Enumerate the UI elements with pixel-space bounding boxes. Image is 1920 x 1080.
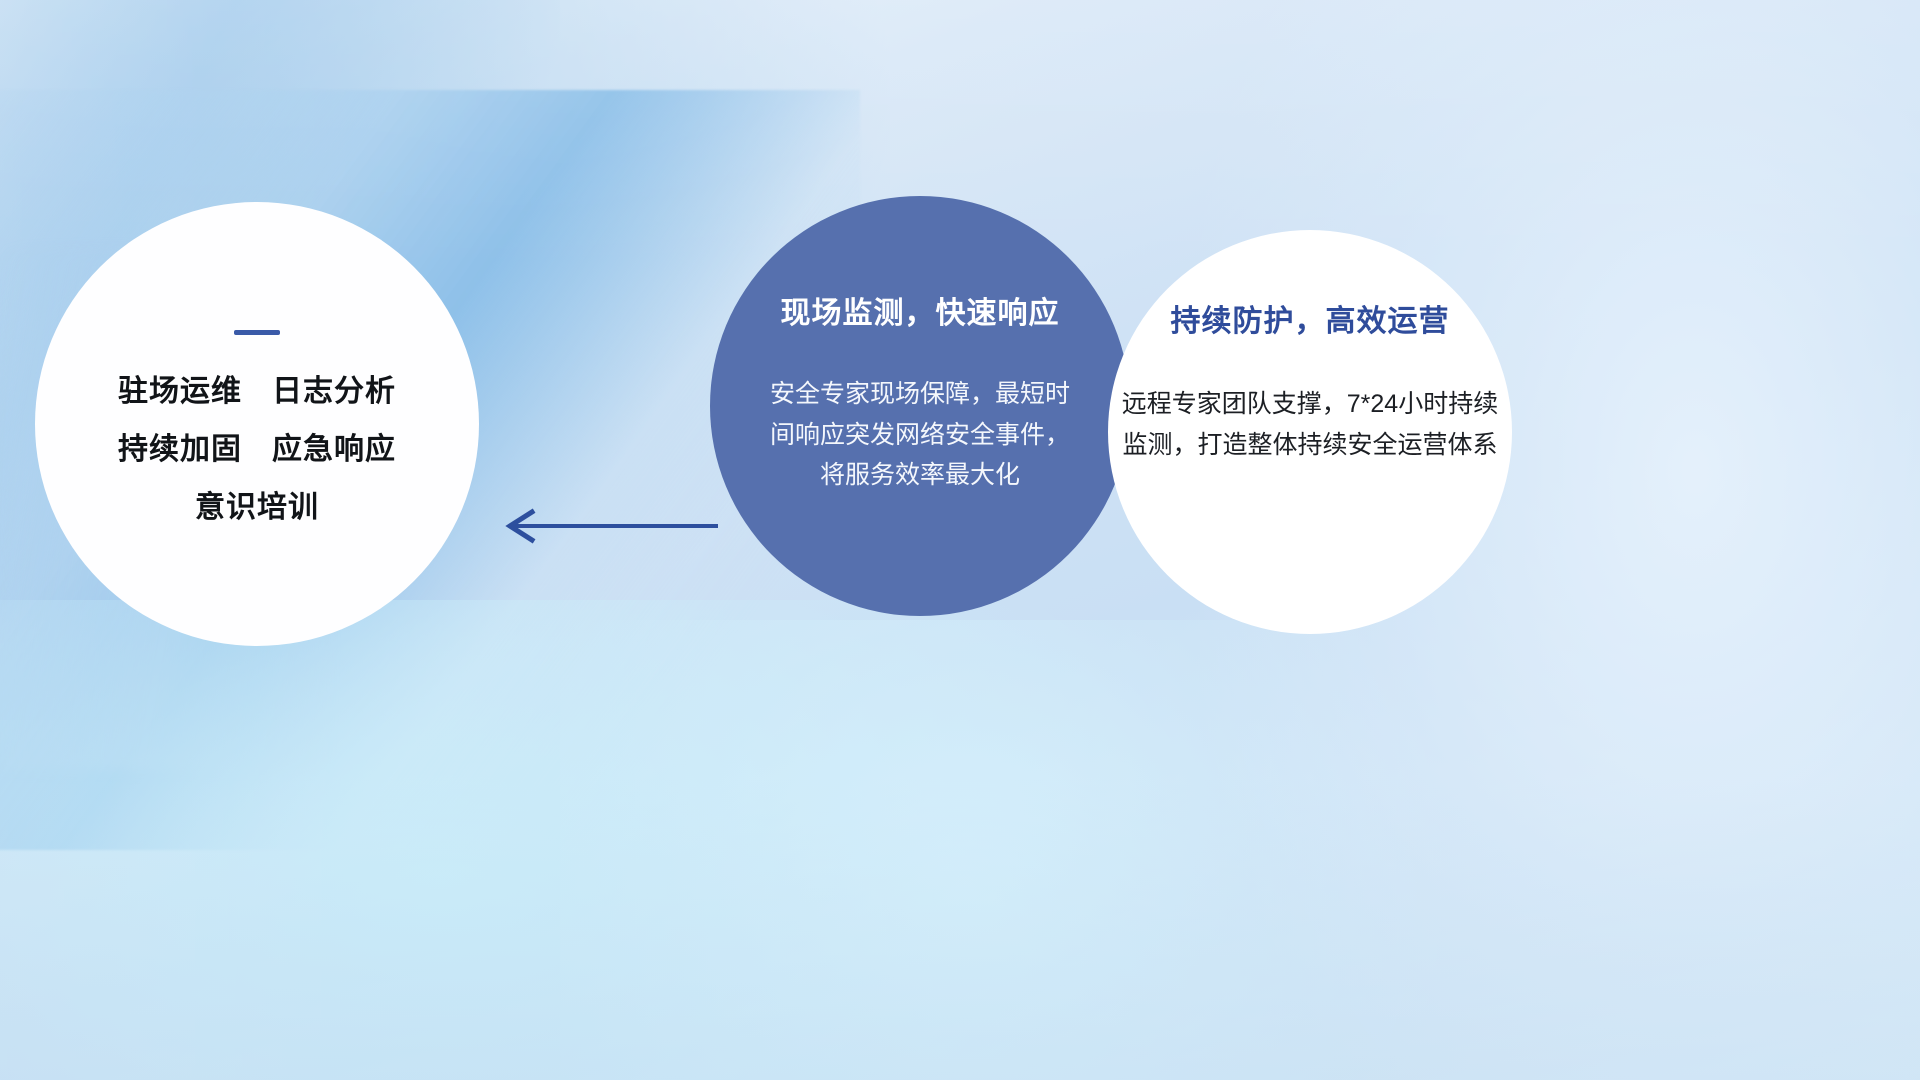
capability-list: 驻场运维 日志分析 持续加固 应急响应 意识培训 <box>118 377 396 523</box>
capability-item: 意识培训 <box>195 491 319 524</box>
node-title: 持续防护，高效运营 <box>1171 296 1450 340</box>
capability-row: 驻场运维 日志分析 <box>118 377 396 407</box>
node-continuous-protection[interactable]: 持续防护，高效运营 远程专家团队支撑，7*24小时持续监测，打造整体持续安全运营… <box>1108 230 1512 634</box>
node-capabilities[interactable]: 驻场运维 日志分析 持续加固 应急响应 意识培训 <box>35 202 479 646</box>
capability-item: 应急响应 <box>272 435 396 465</box>
node-onsite-monitoring[interactable]: 现场监测，快速响应 安全专家现场保障，最短时间响应突发网络安全事件，将服务效率最… <box>710 196 1130 616</box>
diagram-stage: 驻场运维 日志分析 持续加固 应急响应 意识培训 现场监测，快速响应 安全专家现… <box>0 0 1920 1080</box>
capability-item: 持续加固 <box>118 435 242 465</box>
capability-item: 驻场运维 <box>118 377 242 407</box>
node-title: 现场监测，快速响应 <box>781 288 1060 332</box>
node-body: 远程专家团队支撑，7*24小时持续监测，打造整体持续安全运营体系 <box>1120 384 1500 465</box>
capability-row: 意识培训 <box>118 493 396 523</box>
arrow-to-capabilities <box>490 500 720 552</box>
arrow-left-icon <box>490 500 720 552</box>
capability-item: 日志分析 <box>272 377 396 407</box>
capability-row: 持续加固 应急响应 <box>118 435 396 465</box>
divider-rule <box>234 330 280 335</box>
node-body: 安全专家现场保障，最短时间响应突发网络安全事件，将服务效率最大化 <box>770 374 1070 496</box>
